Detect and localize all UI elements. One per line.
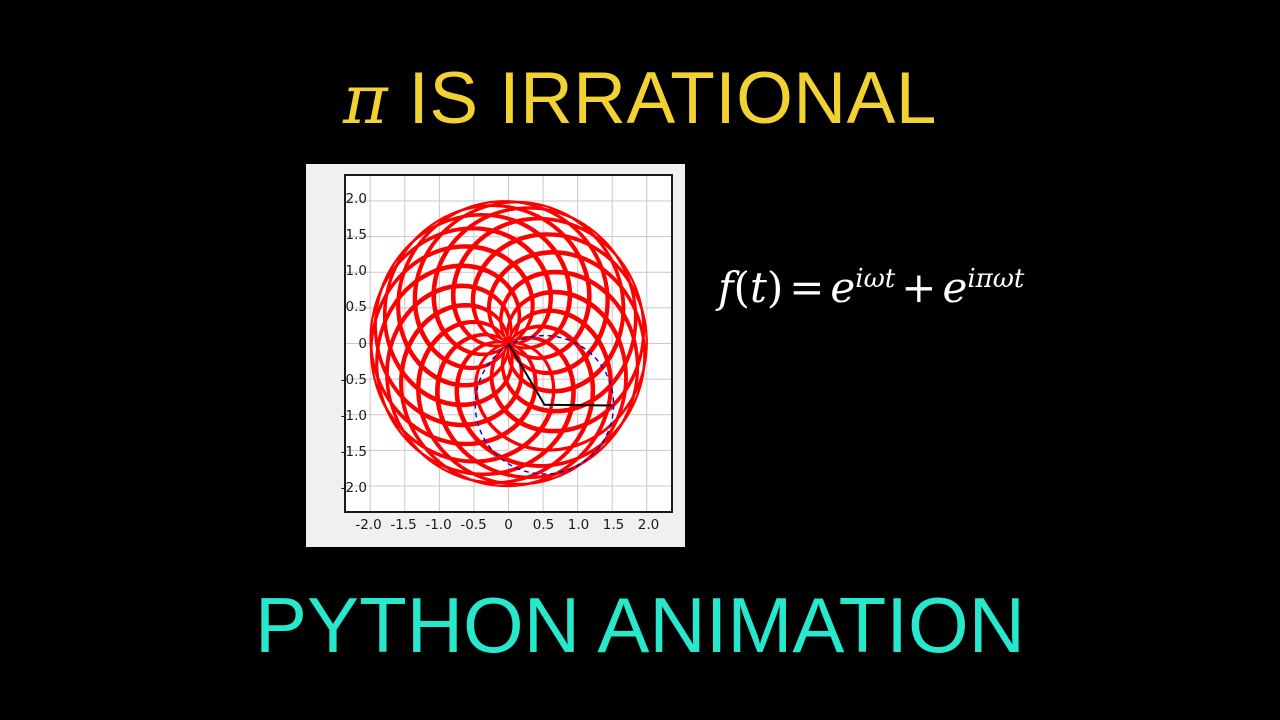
slide-canvas: π IS IRRATIONAL 2.01.51.00.50-0.5-1.0-1.…	[0, 0, 1280, 720]
y-tick-label: -2.0	[307, 480, 367, 496]
formula-term1-base: e	[830, 263, 855, 312]
plot-figure: 2.01.51.00.50-0.5-1.0-1.5-2.0 -2.0-1.5-1…	[306, 164, 685, 547]
formula-term2-base: e	[942, 263, 967, 312]
plot-axes	[344, 174, 673, 513]
y-tick-label: 0	[307, 336, 367, 352]
y-tick-label: 0.5	[307, 299, 367, 315]
page-title-text: IS IRRATIONAL	[388, 58, 937, 139]
formula-term2-exponent: iπωt	[967, 264, 1024, 294]
y-tick-label: 1.0	[307, 263, 367, 279]
y-tick-label: -1.0	[307, 408, 367, 424]
y-tick-label: -0.5	[307, 372, 367, 388]
x-tick-label: 2.0	[619, 517, 679, 533]
formula-open-paren: (	[734, 263, 750, 312]
formula-close-paren: )	[767, 263, 783, 312]
formula: f(t)=eiωt+eiπωt	[718, 266, 1024, 309]
spirograph-plot	[346, 176, 671, 511]
formula-t: t	[750, 263, 767, 312]
page-title: π IS IRRATIONAL	[0, 62, 1280, 135]
y-tick-label: 1.5	[307, 227, 367, 243]
formula-plus: +	[895, 263, 942, 312]
y-tick-label: 2.0	[307, 191, 367, 207]
y-tick-label: -1.5	[307, 444, 367, 460]
formula-equals: =	[783, 263, 830, 312]
pi-symbol: π	[343, 61, 388, 140]
formula-term1-exponent: iωt	[855, 264, 895, 294]
formula-f: f	[718, 263, 734, 312]
caption-text: PYTHON ANIMATION	[0, 586, 1280, 664]
